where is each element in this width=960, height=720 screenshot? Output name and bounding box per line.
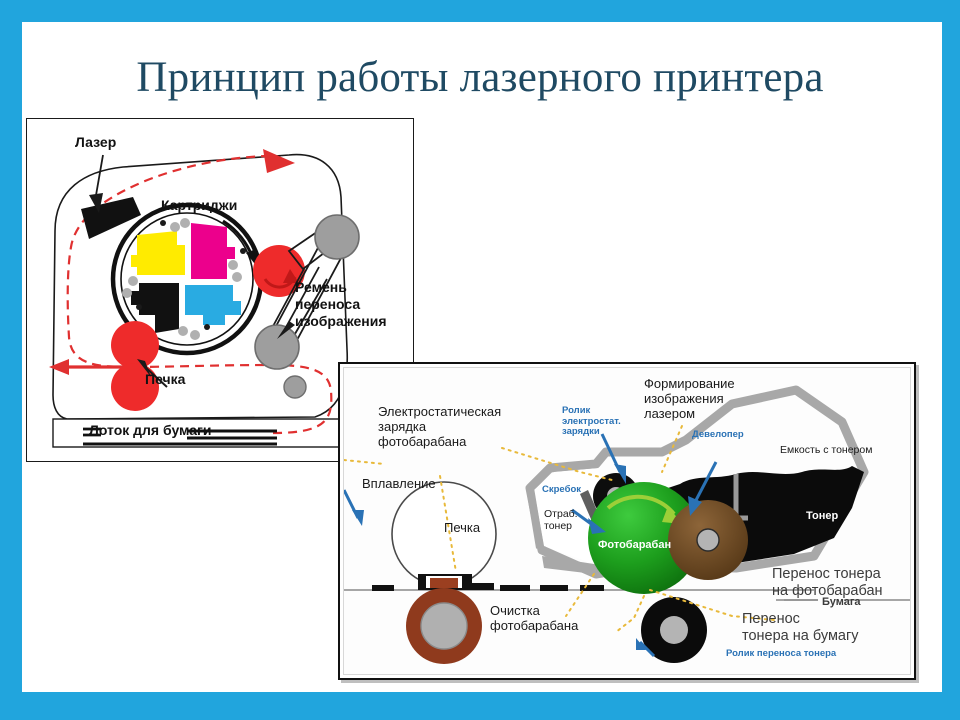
label-fusing: Вплавление [362, 476, 436, 491]
label-toner-tank: Емкость с тонером [780, 444, 872, 456]
label-toner: Тонер [806, 509, 838, 524]
label-paper-tray: Лоток для бумаги [89, 422, 211, 438]
label-charge-roller: Ролик электростат. зарядки [562, 406, 621, 438]
label-waste-toner: Отраб. тонер [544, 508, 578, 532]
label-transfer-roller: Ролик переноса тонера [726, 649, 836, 660]
label-fuser: Печка [444, 520, 480, 535]
label-photo-drum: Фотобарабан [598, 538, 671, 553]
border-top [22, 0, 960, 22]
label-laser-imaging: Формирование изображения лазером [644, 376, 735, 421]
label-transfer-to-paper: Перенос тонера на бумагу [742, 611, 859, 645]
label-scraper: Скребок [542, 485, 581, 496]
label-cartridges: Картриджи [161, 197, 237, 213]
label-drum-cleaning: Очистка фотобарабана [490, 603, 578, 633]
label-transfer-belt: Ремень переноса изображения [295, 279, 387, 330]
border-right [942, 22, 960, 692]
diagram-cartridge-detail: Электростатическая зарядка фотобарабана … [338, 362, 916, 680]
page-title: Принцип работы лазерного принтера [0, 52, 960, 104]
border-bottom [0, 692, 960, 720]
border-left [0, 0, 22, 720]
label-developer: Девелопер [692, 430, 744, 441]
slide-root: Принцип работы лазерного принтера [0, 0, 960, 720]
label-fuser: Печка [145, 371, 185, 387]
label-laser: Лазер [75, 134, 116, 150]
label-electrostatic-charge: Электростатическая зарядка фотобарабана [378, 404, 501, 449]
label-paper: Бумага [822, 595, 861, 610]
